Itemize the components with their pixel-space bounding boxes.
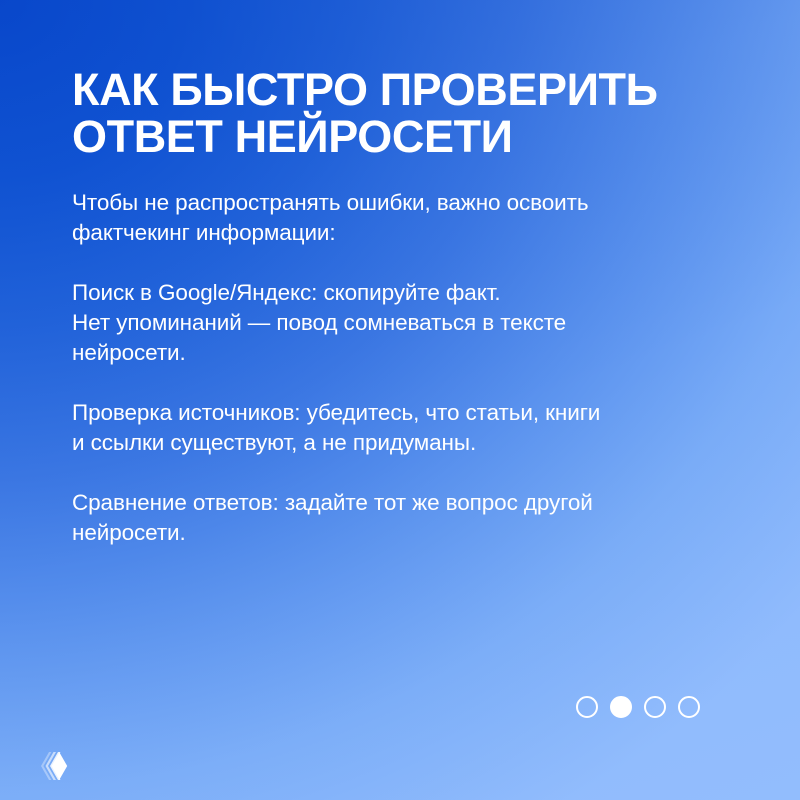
pagination-dot-4[interactable] [678,696,700,718]
paragraph-compare-answers: Сравнение ответов: задайте тот же вопрос… [72,488,736,548]
paragraph-source-check: Проверка источников: убедитесь, что стат… [72,398,736,458]
slide-canvas: КАК БЫСТРО ПРОВЕРИТЬ ОТВЕТ НЕЙРОСЕТИ Что… [0,0,800,800]
brand-diamond-icon [22,742,70,790]
paragraph-search-check: Поиск в Google/Яндекс: скопируйте факт. … [72,278,736,368]
body-copy: Чтобы не распространять ошибки, важно ос… [72,188,736,548]
paragraph-intro: Чтобы не распространять ошибки, важно ос… [72,188,736,248]
brand-logo [22,742,70,790]
pagination-dots[interactable] [576,696,700,718]
page-title: КАК БЫСТРО ПРОВЕРИТЬ ОТВЕТ НЕЙРОСЕТИ [72,66,732,160]
slide-content: КАК БЫСТРО ПРОВЕРИТЬ ОТВЕТ НЕЙРОСЕТИ Что… [0,0,800,800]
pagination-dot-2-active[interactable] [610,696,632,718]
pagination-dot-3[interactable] [644,696,666,718]
pagination-dot-1[interactable] [576,696,598,718]
